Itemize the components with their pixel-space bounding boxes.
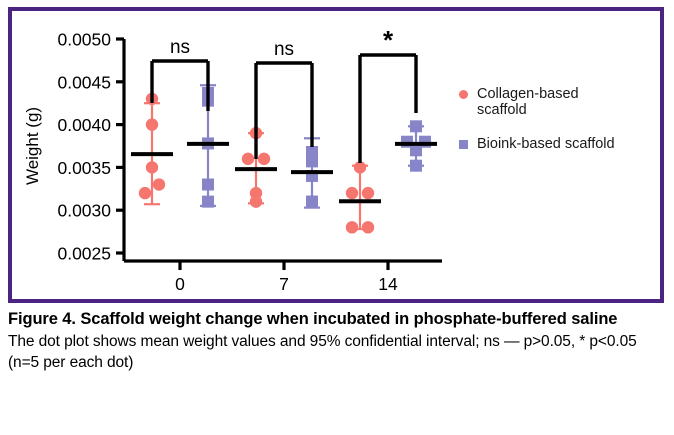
series-group-1-1 [291,138,333,207]
y-tick-label: 0.0040 [57,115,111,135]
legend-marker-circle-icon [459,90,468,99]
data-point [202,179,214,191]
legend-item-bioink: Bioink-based scaffold [459,136,654,152]
significance-bracket-day7: ns [256,39,312,159]
y-tick-label: 0.0025 [57,244,111,264]
legend-label-bioink: Bioink-based scaffold [477,136,615,152]
legend-marker-square-icon [459,140,468,149]
data-point [153,178,165,190]
significance-label: * [383,25,394,55]
y-tick-label: 0.0050 [57,30,111,50]
y-tick-label: 0.0035 [57,158,111,178]
data-point [346,221,358,233]
figure-panel: 0.00250.00300.00350.00400.00450.0050Weig… [8,7,664,303]
data-point [146,118,158,130]
caption-title: Figure 4. Scaffold weight change when in… [8,310,668,329]
data-point [250,195,262,207]
x-tick-label: 14 [378,274,398,294]
data-point [306,196,318,208]
figure-caption: Figure 4. Scaffold weight change when in… [8,310,668,373]
significance-label: ns [170,37,190,58]
legend-item-collagen: Collagen-based scaffold [459,86,634,119]
series-group-0-0 [131,93,173,204]
plot-svg: 0.00250.00300.00350.00400.00450.0050Weig… [12,11,660,299]
data-point [258,153,270,165]
y-tick-label: 0.0045 [57,72,111,92]
data-point [362,221,374,233]
data-point [306,155,318,167]
data-point [146,161,158,173]
series-group-1-2 [395,120,437,171]
data-point [410,120,422,132]
data-point [202,196,214,208]
y-tick-label: 0.0030 [57,201,111,221]
data-point [362,187,374,199]
data-point [410,144,422,156]
x-tick-label: 0 [175,274,185,294]
data-point [242,153,254,165]
data-point [354,161,366,173]
series-group-0-2 [339,161,381,233]
data-point [410,160,422,172]
data-point [139,187,151,199]
significance-label: ns [274,39,294,60]
dot-plot: 0.00250.00300.00350.00400.00450.0050Weig… [12,11,660,299]
legend-label-collagen: Collagen-based scaffold [477,86,579,119]
y-axis-label: Weight (g) [23,107,42,185]
figure-screenshot: 0.00250.00300.00350.00400.00450.0050Weig… [0,0,674,435]
data-point [346,187,358,199]
x-tick-label: 7 [279,274,289,294]
caption-body: The dot plot shows mean weight values an… [8,332,668,372]
significance-bracket-day0: ns [152,37,208,111]
